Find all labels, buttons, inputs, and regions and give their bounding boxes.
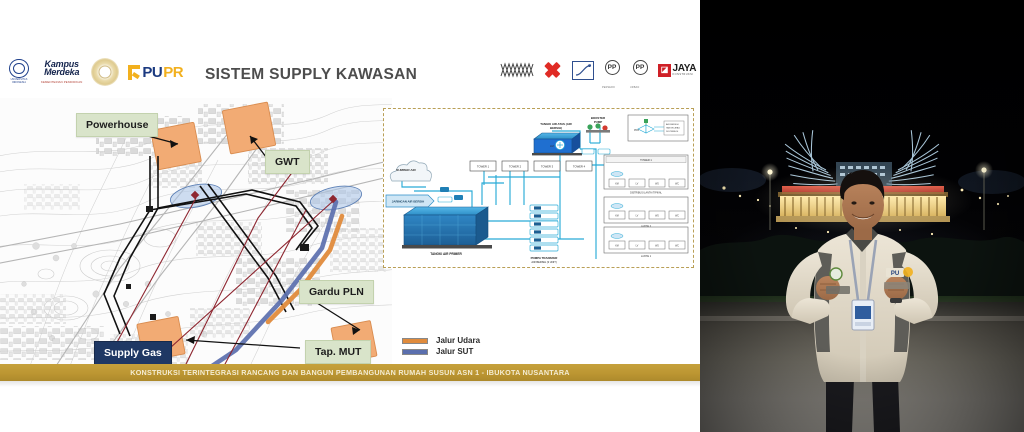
svg-text:WS: WS [655,216,659,218]
callout-supply-gas-label: Supply Gas [104,347,162,359]
jaya-konstruksi-logo: ◪ JAYA KONSTRUKSI [658,64,696,77]
jaya-mark-icon: ◪ [658,64,671,77]
svg-text:WC: WC [675,216,679,218]
pupr-mark-icon [128,65,141,80]
svg-text:TOWER 1: TOWER 1 [477,164,490,168]
svg-text:PIPA: PIPA [634,129,640,132]
page-title: SISTEM SUPPLY KAWASAN [205,66,417,84]
legend-swatch-orange [402,338,428,344]
svg-text:KM: KM [615,216,619,218]
callout-tap-mut[interactable]: Tap. MUT [305,340,371,364]
svg-text:TANGKI ATAS: TANGKI ATAS [666,127,680,130]
svg-text:WS: WS [655,184,659,186]
jaya-caption: KONSTRUKSI [673,74,697,77]
pp-logo-1-caption: PERSERO [602,86,615,89]
legend-label-jalur-sut: Jalur SUT [436,347,473,356]
svg-text:LV: LV [636,216,639,218]
svg-text:POMPA TRANSFER: POMPA TRANSFER [531,256,559,260]
garuda-gold-logo [91,58,119,86]
svg-text:PU: PU [891,271,899,277]
legend-swatch-blue [402,349,428,355]
callout-powerhouse[interactable]: Powerhouse [76,113,158,137]
map-legend: Jalur Udara Jalur SUT [402,336,480,358]
callout-tap-mut-label: Tap. MUT [315,346,361,358]
person-figure: PU [700,0,1024,432]
svg-text:DISTRIBUSI LANTAI TIPIKAL: DISTRIBUSI LANTAI TIPIKAL [630,192,662,195]
svg-text:WC: WC [675,246,679,248]
svg-text:LV: LV [636,246,639,248]
svg-text:AIR BERSIH: AIR BERSIH [666,123,679,126]
svg-text:TANGKI AIR PRIMER: TANGKI AIR PRIMER [430,252,462,256]
callout-supply-gas[interactable]: Supply Gas [94,341,172,365]
pp-logo-2-text: PP [633,60,648,75]
svg-text:LM: LM [550,144,554,148]
slide-footer-banner-text: KONSTRUKSI TERINTEGRASI RANCANG DAN BANG… [130,368,569,377]
svg-text:DISTRIBUSI: DISTRIBUSI [666,131,679,133]
site-map-vector [0,98,392,366]
svg-text:SUMBER AIR: SUMBER AIR [396,168,416,172]
svg-text:BERSIH): BERSIH) [550,126,562,130]
presentation-slide: UNIVERSITAS INDONESIA Kampus Merdeka KEM… [0,0,700,432]
screenshot-root: UNIVERSITAS INDONESIA Kampus Merdeka KEM… [0,0,1024,432]
kampus-merdeka-logo: Kampus Merdeka KEMENTERIAN PENDIDIKAN [41,60,82,83]
kampus-merdeka-line2: Merdeka [44,68,79,77]
pupr-text-pu: PU [142,64,162,81]
svg-text:KM: KM [615,246,619,248]
jaya-wordmark: JAYA KONSTRUKSI [673,64,697,77]
svg-text:TOWER 1: TOWER 1 [640,158,652,162]
svg-text:AIR BERSIH (3 UNIT): AIR BERSIH (3 UNIT) [531,260,557,264]
pupr-logo: PU PR [128,64,183,81]
callout-gardu-pln[interactable]: Gardu PLN [299,280,374,304]
callout-gwt-label: GWT [275,156,300,168]
pp-logo-2-caption: URBAN [630,86,639,89]
callout-powerhouse-label: Powerhouse [86,119,148,131]
water-supply-schematic[interactable]: SUMBER AIR JARINGAN AIR BERSIH [383,108,694,268]
svg-text:WC: WC [675,184,679,186]
svg-text:TOWER 3: TOWER 3 [541,164,554,168]
blue-box-curve-logo [572,61,594,80]
legend-label-jalur-udara: Jalur Udara [436,336,480,345]
callout-gwt[interactable]: GWT [265,150,310,174]
tangki-air-primer-graphic [402,207,492,249]
partner-logos-left: UNIVERSITAS INDONESIA Kampus Merdeka KEM… [6,58,183,86]
pupr-text-pr: PR [163,64,183,81]
istana-garuda-night-photo: PU [700,0,1024,432]
svg-text:JARINGAN AIR BERSIH: JARINGAN AIR BERSIH [392,200,425,204]
svg-text:PUMP: PUMP [594,120,602,124]
partner-logos-right: PP PERSERO PP URBAN ◪ JAYA KONSTRUKSI [500,60,696,80]
wika-zigzag-logo [500,60,534,80]
svg-text:LV: LV [636,184,639,186]
pp-logo-1-text: PP [605,60,620,75]
callout-gardu-pln-label: Gardu PLN [309,286,364,298]
kampus-merdeka-line3: KEMENTERIAN PENDIDIKAN [41,81,82,84]
legend-item-jalur-udara: Jalur Udara [402,336,480,345]
pp-logo-2: PP URBAN [630,60,650,80]
universitas-indonesia-logo: UNIVERSITAS INDONESIA [6,59,32,85]
svg-text:KM: KM [615,184,619,186]
svg-text:TOWER 4: TOWER 4 [573,164,586,168]
site-master-plan-map[interactable] [0,98,392,366]
pp-logo-1: PP PERSERO [602,60,622,80]
slide-footer-banner: KONSTRUKSI TERINTEGRASI RANCANG DAN BANG… [0,364,700,381]
red-x-logo [542,60,564,80]
svg-text:WS: WS [655,246,659,248]
svg-text:LANTAI 1: LANTAI 1 [641,255,652,258]
schematic-vector: SUMBER AIR JARINGAN AIR BERSIH [384,109,693,267]
legend-item-jalur-sut: Jalur SUT [402,347,480,356]
banner-shadow [0,381,700,387]
ui-logo-caption: UNIVERSITAS INDONESIA [6,79,32,85]
svg-text:TOWER 2: TOWER 2 [509,164,522,168]
